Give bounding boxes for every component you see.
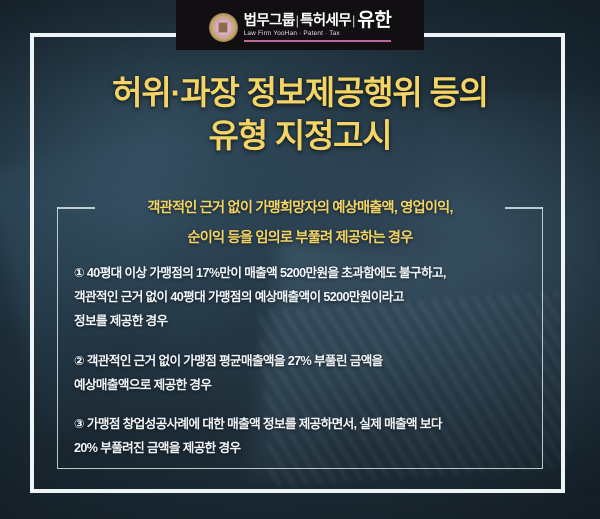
page-title-line-1: 허위·과장 정보제공행위 등의 [0,72,600,115]
logo-lockup: 법무그룹 | 특허세무 Law Firm YooHan · Patent · T… [209,8,392,43]
case-list: ① 40평대 이상 가맹점의 17%만이 매출액 5200만원을 초과함에도 불… [74,261,532,460]
logo-firm-name: 유한 [357,11,391,30]
logo-divider-2: | [351,14,356,27]
case-1-line-3: 정보를 제공한 경우 [74,309,532,333]
logo-korean-block: 법무그룹 | 특허세무 Law Firm YooHan · Patent · T… [244,14,351,38]
logo-korean-row: 법무그룹 | 특허세무 Law Firm YooHan · Patent · T… [244,10,392,38]
case-3-line-1: ③ 가맹점 창업성공사례에 대한 매출액 정보를 제공하면서, 실제 매출액 보… [74,412,532,436]
case-1-line-1: ① 40평대 이상 가맹점의 17%만이 매출액 5200만원을 초과함에도 불… [74,261,532,285]
logo-korean-secondary: 특허세무 [300,14,351,29]
case-1-line-2: 객관적인 근거 없이 40평대 가맹점의 예상매출액이 5200만원이라고 [74,285,532,309]
logo-underline [244,40,392,42]
page-title-line-2: 유형 지정고시 [0,115,600,158]
case-2-line-2: 예상매출액으로 제공한 경우 [74,373,532,397]
list-item: ② 객관적인 근거 없이 가맹점 평균매출액을 27% 부풀린 금액을 예상매출… [74,349,532,397]
logo-wordmark: 법무그룹 | 특허세무 Law Firm YooHan · Patent · T… [244,10,392,43]
subtitle: 객관적인 근거 없이 가맹희망자의 예상매출액, 영업이익, 순이익 등을 임의… [60,194,540,254]
logo-korean-primary: 법무그룹 [244,14,295,29]
case-3-line-2: 20% 부풀려진 금액을 제공한 경우 [74,436,532,460]
list-item: ③ 가맹점 창업성공사례에 대한 매출액 정보를 제공하면서, 실제 매출액 보… [74,412,532,460]
logo-english-tagline: Law Firm YooHan · Patent · Tax [244,31,351,37]
logo-band: 법무그룹 | 특허세무 Law Firm YooHan · Patent · T… [176,0,424,50]
list-item: ① 40평대 이상 가맹점의 17%만이 매출액 5200만원을 초과함에도 불… [74,261,532,334]
subtitle-line-2: 순이익 등을 임의로 부풀려 제공하는 경우 [60,224,540,254]
rosette-seal-icon [209,13,238,42]
poster-canvas: 법무그룹 | 특허세무 Law Firm YooHan · Patent · T… [0,0,600,519]
case-2-line-1: ② 객관적인 근거 없이 가맹점 평균매출액을 27% 부풀린 금액을 [74,349,532,373]
page-title: 허위·과장 정보제공행위 등의 유형 지정고시 [0,72,600,158]
subtitle-line-1: 객관적인 근거 없이 가맹희망자의 예상매출액, 영업이익, [60,194,540,224]
